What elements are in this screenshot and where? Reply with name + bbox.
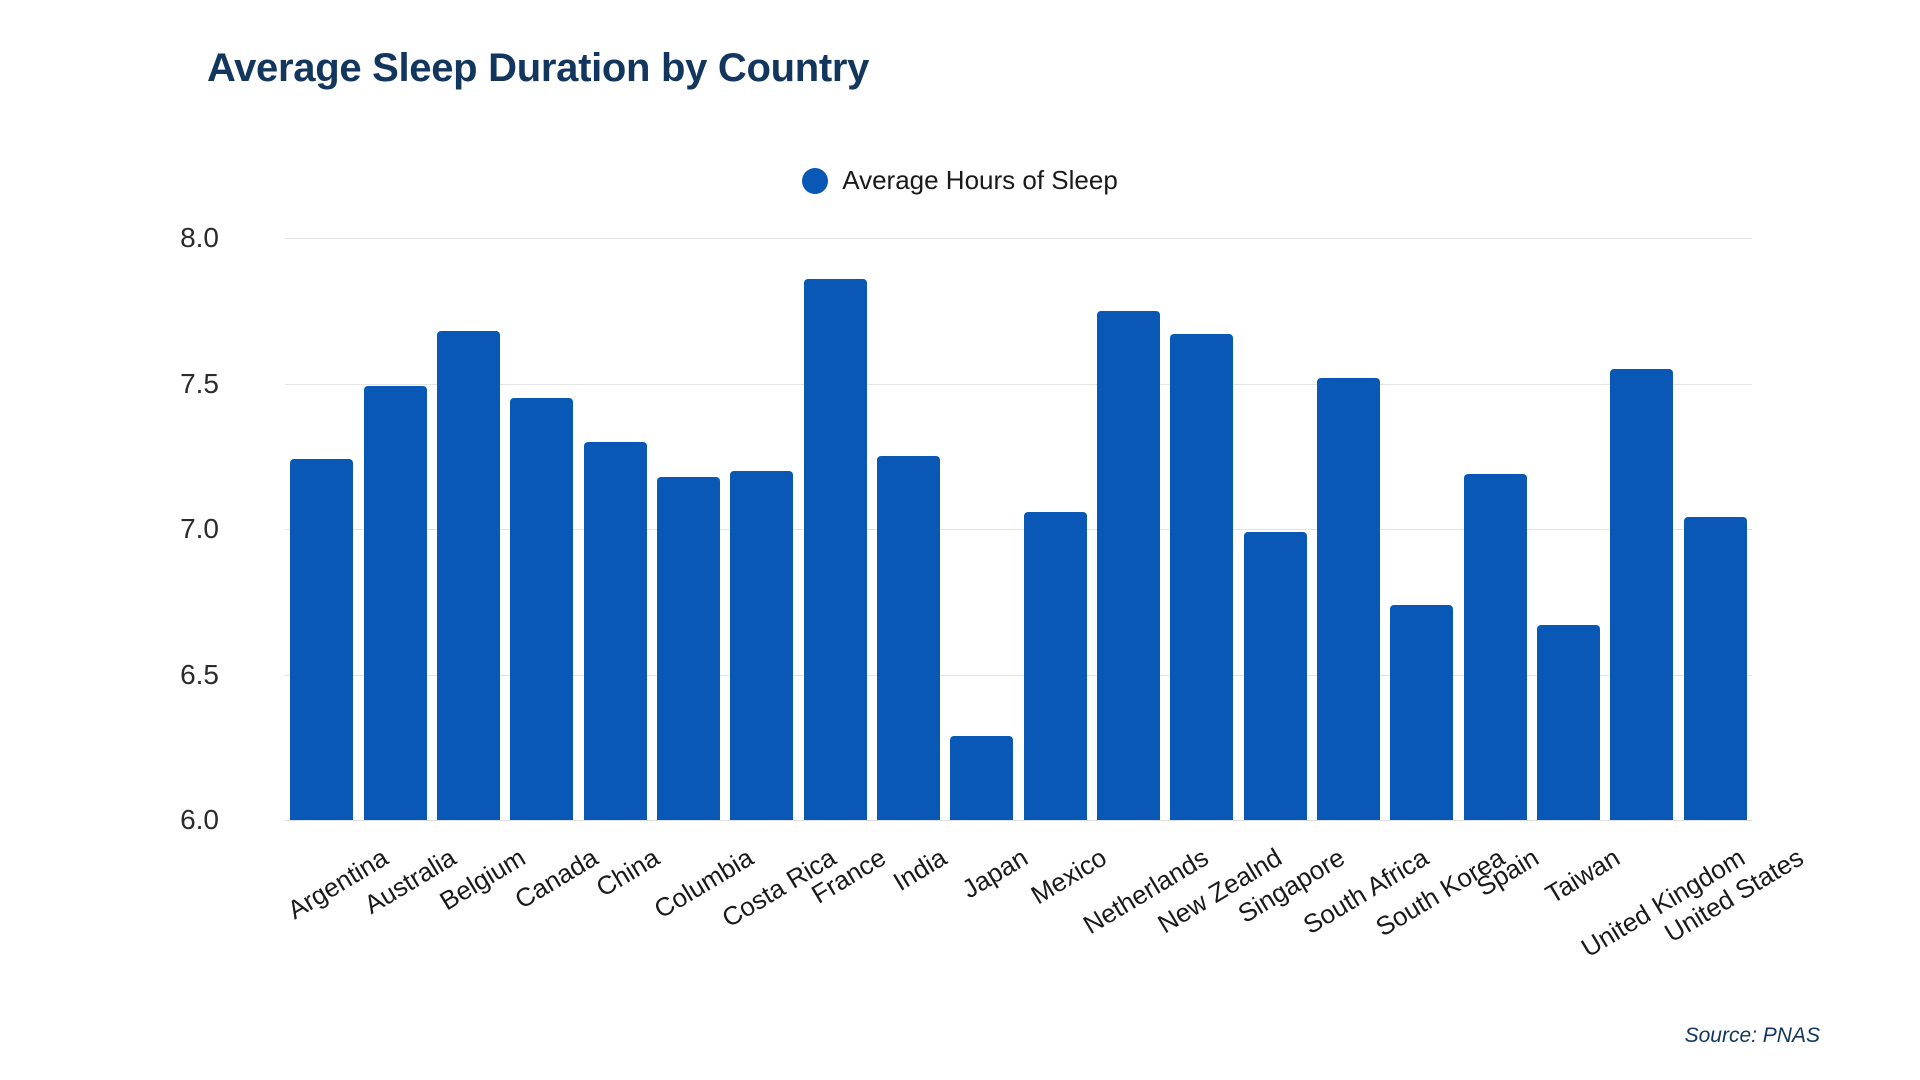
x-axis-tick-slot: Costa Rica — [725, 820, 798, 1030]
bar[interactable] — [290, 459, 353, 820]
y-axis-tick-label: 7.0 — [180, 513, 219, 545]
legend-swatch-circle-icon — [802, 168, 828, 194]
y-axis-tick-labels: 6.06.57.07.58.0 — [0, 238, 265, 820]
bar-slot — [1092, 238, 1165, 820]
x-axis-tick-label: India — [888, 842, 952, 898]
bar[interactable] — [1610, 369, 1673, 820]
x-axis-tick-slot: Japan — [945, 820, 1018, 1030]
bar-slot — [652, 238, 725, 820]
bar-slot — [285, 238, 358, 820]
bar[interactable] — [1464, 474, 1527, 820]
x-axis-tick-slot: South Korea — [1385, 820, 1458, 1030]
bar-slot — [725, 238, 798, 820]
x-axis-tick-slot: Netherlands — [1092, 820, 1165, 1030]
x-axis-tick-slot: Columbia — [652, 820, 725, 1030]
y-axis-tick-label: 8.0 — [180, 222, 219, 254]
legend-item-average-hours-of-sleep[interactable]: Average Hours of Sleep — [802, 165, 1118, 196]
bar[interactable] — [1097, 311, 1160, 820]
x-axis-tick-slot: New Zealnd — [1165, 820, 1238, 1030]
bar-slot — [1459, 238, 1532, 820]
bar-slot — [505, 238, 578, 820]
bar-slot — [1605, 238, 1678, 820]
bar-slot — [1679, 238, 1752, 820]
bar[interactable] — [437, 331, 500, 820]
chart-container: Average Sleep Duration by Country Averag… — [0, 0, 1920, 1080]
x-axis-tick-slot: Canada — [505, 820, 578, 1030]
bar[interactable] — [510, 398, 573, 820]
y-axis-tick-label: 6.5 — [180, 659, 219, 691]
bar[interactable] — [950, 736, 1013, 820]
legend-label: Average Hours of Sleep — [842, 165, 1118, 196]
bar-slot — [1238, 238, 1311, 820]
bar-group — [285, 238, 1752, 820]
x-axis-tick-slot: Argentina — [285, 820, 358, 1030]
bar[interactable] — [1684, 517, 1747, 820]
bar-slot — [945, 238, 1018, 820]
bar-slot — [798, 238, 871, 820]
bar[interactable] — [730, 471, 793, 820]
bar-slot — [1018, 238, 1091, 820]
bar-slot — [1385, 238, 1458, 820]
x-axis-tick-slot: Spain — [1459, 820, 1532, 1030]
bar[interactable] — [364, 386, 427, 820]
bar-slot — [1165, 238, 1238, 820]
x-axis-tick-slot: India — [872, 820, 945, 1030]
plot-area — [285, 238, 1752, 820]
x-axis-tick-slot: Belgium — [432, 820, 505, 1030]
bar[interactable] — [657, 477, 720, 820]
bar-slot — [432, 238, 505, 820]
bar-slot — [358, 238, 431, 820]
bar[interactable] — [1244, 532, 1307, 820]
bar[interactable] — [1024, 512, 1087, 820]
y-axis-tick-label: 7.5 — [180, 368, 219, 400]
y-axis-tick-label: 6.0 — [180, 804, 219, 836]
bar[interactable] — [1537, 625, 1600, 820]
bar[interactable] — [584, 442, 647, 820]
bar-slot — [1532, 238, 1605, 820]
bar[interactable] — [877, 456, 940, 820]
bar[interactable] — [1170, 334, 1233, 820]
x-axis-tick-labels: ArgentinaAustraliaBelgiumCanadaChinaColu… — [285, 820, 1752, 1030]
bar-slot — [578, 238, 651, 820]
source-note: Source: PNAS — [1685, 1024, 1820, 1048]
x-axis-tick-slot: China — [578, 820, 651, 1030]
x-axis-tick-slot: Singapore — [1238, 820, 1311, 1030]
chart-title: Average Sleep Duration by Country — [207, 46, 869, 91]
x-axis-tick-label: United States — [1659, 842, 1809, 949]
x-axis-tick-slot: United States — [1679, 820, 1752, 1030]
bar-slot — [872, 238, 945, 820]
x-axis-tick-slot: France — [798, 820, 871, 1030]
bar[interactable] — [1390, 605, 1453, 820]
x-axis-tick-slot: Australia — [358, 820, 431, 1030]
bar[interactable] — [1317, 378, 1380, 820]
chart-legend: Average Hours of Sleep — [0, 165, 1920, 196]
x-axis-tick-slot: Mexico — [1018, 820, 1091, 1030]
bar[interactable] — [804, 279, 867, 820]
bar-slot — [1312, 238, 1385, 820]
x-axis-tick-slot: South Africa — [1312, 820, 1385, 1030]
